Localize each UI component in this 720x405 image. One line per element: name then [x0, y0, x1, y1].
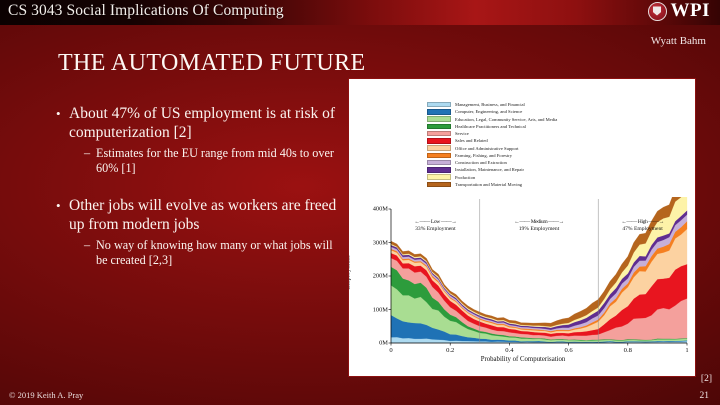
x-tick-label: 0.6 [554, 347, 584, 354]
legend-label: Installation, Maintenance, and Repair [455, 166, 524, 173]
legend-label: Sales and Related [455, 137, 488, 144]
legend-item: Installation, Maintenance, and Repair [427, 166, 557, 173]
slide-number: 21 [700, 391, 710, 401]
sub-bullet-item: – Estimates for the EU range from mid 40… [84, 146, 346, 176]
legend-label: Healthcare Practitioners and Technical [455, 123, 526, 130]
y-tick-label: 0M [352, 340, 388, 347]
legend-item: Healthcare Practitioners and Technical [427, 123, 557, 130]
presentation-slide: CS 3043 Social Implications Of Computing… [0, 0, 720, 405]
legend-swatch-icon [427, 131, 451, 136]
legend-item: Management, Business, and Financial [427, 101, 557, 108]
sub-bullet-text: No way of knowing how many or what jobs … [96, 238, 346, 268]
zone-annotation-value: 47% Employment [598, 226, 688, 233]
chart-legend: Management, Business, and FinancialCompu… [427, 101, 557, 188]
legend-swatch-icon [427, 109, 451, 114]
zone-annotation: ←—— Low ——→33% Employment [390, 219, 480, 232]
y-tick-label: 300M [352, 239, 388, 246]
author-name: Wyatt Bahm [651, 35, 706, 47]
image-citation: [2] [701, 374, 712, 384]
bullet-item: • About 47% of US employment is at risk … [56, 104, 346, 142]
sub-bullet-item: – No way of knowing how many or what job… [84, 238, 346, 268]
legend-swatch-icon [427, 182, 451, 187]
sub-bullet-text: Estimates for the EU range from mid 40s … [96, 146, 346, 176]
wpi-logo: WPI [648, 1, 711, 21]
legend-swatch-icon [427, 138, 451, 143]
employment-computerisation-chart: Management, Business, and FinancialCompu… [348, 78, 696, 377]
copyright-notice: © 2019 Keith A. Pray [9, 390, 83, 400]
legend-item: Service [427, 130, 557, 137]
x-tick-label: 0.8 [613, 347, 643, 354]
legend-item: Production [427, 174, 557, 181]
legend-label: Transportation and Material Moving [455, 181, 522, 188]
legend-item: Office and Administrative Support [427, 145, 557, 152]
y-tick-label: 100M [352, 306, 388, 313]
legend-swatch-icon [427, 124, 451, 129]
bullet-item: • Other jobs will evolve as workers are … [56, 196, 346, 234]
bullet-marker: • [56, 104, 69, 123]
legend-label: Service [455, 130, 469, 137]
bullet-group-1: • About 47% of US employment is at risk … [56, 104, 346, 176]
bullet-text: Other jobs will evolve as workers are fr… [69, 196, 346, 234]
sub-bullet-marker: – [84, 238, 96, 253]
zone-annotation-label: ←—— High ——→ [598, 219, 688, 226]
legend-swatch-icon [427, 153, 451, 158]
legend-swatch-icon [427, 145, 451, 150]
y-tick-label: 200M [352, 273, 388, 280]
page-title: THE AUTOMATED FUTURE [58, 50, 366, 77]
bullet-marker: • [56, 196, 69, 215]
x-tick-label: 0.4 [494, 347, 524, 354]
bullet-group-2: • Other jobs will evolve as workers are … [56, 196, 346, 268]
legend-item: Computer, Engineering, and Science [427, 108, 557, 115]
legend-swatch-icon [427, 167, 451, 172]
x-tick-label: 0 [376, 347, 406, 354]
legend-label: Computer, Engineering, and Science [455, 108, 522, 115]
wpi-seal-icon [648, 2, 667, 21]
x-tick-label: 0.2 [435, 347, 465, 354]
legend-item: Transportation and Material Moving [427, 181, 557, 188]
y-tick-label: 400M [352, 206, 388, 213]
x-tick-label: 1 [672, 347, 696, 354]
legend-swatch-icon [427, 174, 451, 179]
x-axis-label: Probability of Computerisation [349, 356, 696, 363]
bullet-list: • About 47% of US employment is at risk … [56, 104, 346, 268]
legend-item: Farming, Fishing, and Forestry [427, 152, 557, 159]
wpi-logo-text: WPI [671, 1, 711, 21]
sub-bullet-marker: – [84, 146, 96, 161]
zone-annotation: ←—— Medium ——→19% Employment [494, 219, 584, 232]
legend-item: Education, Legal, Community Service, Art… [427, 116, 557, 123]
legend-item: Construction and Extraction [427, 159, 557, 166]
zone-annotation-label: ←—— Medium ——→ [494, 219, 584, 226]
bullet-text: About 47% of US employment is at risk of… [69, 104, 346, 142]
chart-plot-area: Employment Probability of Computerisatio… [349, 197, 696, 377]
legend-swatch-icon [427, 160, 451, 165]
legend-label: Education, Legal, Community Service, Art… [455, 116, 557, 123]
legend-swatch-icon [427, 102, 451, 107]
legend-swatch-icon [427, 116, 451, 121]
zone-annotation-label: ←—— Low ——→ [390, 219, 480, 226]
legend-item: Sales and Related [427, 137, 557, 144]
y-axis-label: Employment [348, 255, 352, 289]
course-title: CS 3043 Social Implications Of Computing [8, 2, 284, 20]
legend-label: Management, Business, and Financial [455, 101, 525, 108]
zone-annotation-value: 19% Employment [494, 226, 584, 233]
legend-label: Production [455, 174, 475, 181]
zone-annotation: ←—— High ——→47% Employment [598, 219, 688, 232]
legend-label: Construction and Extraction [455, 159, 507, 166]
legend-label: Farming, Fishing, and Forestry [455, 152, 512, 159]
zone-annotation-value: 33% Employment [390, 226, 480, 233]
legend-label: Office and Administrative Support [455, 145, 519, 152]
